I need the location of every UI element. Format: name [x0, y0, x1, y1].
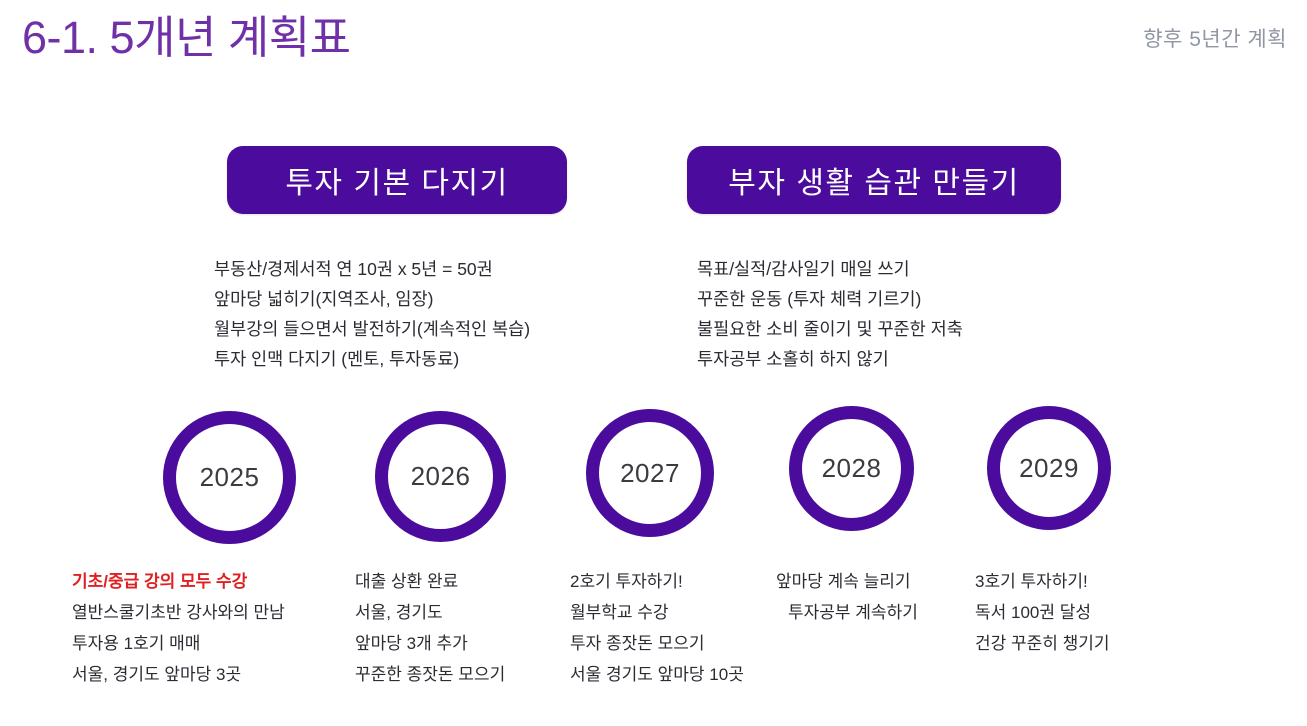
timeline-node-year: 2029 — [1019, 453, 1079, 484]
year-detail-line: 2호기 투자하기! — [570, 566, 744, 597]
year-details-2027: 2호기 투자하기! 월부학교 수강 투자 종잣돈 모으기 서울 경기도 앞마당 … — [570, 566, 744, 690]
year-detail-line: 건강 꾸준히 챙기기 — [975, 628, 1110, 659]
year-detail-line: 3호기 투자하기! — [975, 566, 1110, 597]
banner-rich-habits: 부자 생활 습관 만들기 — [687, 146, 1061, 214]
page-subtitle: 향후 5년간 계획 — [1143, 23, 1287, 53]
year-detail-line: 열반스쿨기초반 강사와의 만남 — [72, 597, 285, 628]
timeline-node-2025: 2025 — [163, 411, 296, 544]
bullet-list-rich-habits: 목표/실적/감사일기 매일 쓰기 꾸준한 운동 (투자 체력 기르기) 불필요한… — [697, 254, 963, 374]
year-detail-line: 독서 100권 달성 — [975, 597, 1110, 628]
bullet-line: 부동산/경제서적 연 10권 x 5년 = 50권 — [214, 254, 530, 284]
bullet-line: 투자 인맥 다지기 (멘토, 투자동료) — [214, 344, 530, 374]
timeline-node-year: 2026 — [411, 461, 471, 492]
year-detail-line: 투자용 1호기 매매 — [72, 628, 285, 659]
year-detail-line: 꾸준한 종잣돈 모으기 — [355, 659, 505, 690]
timeline-node-2029: 2029 — [987, 406, 1111, 530]
year-detail-line-highlight: 기초/중급 강의 모두 수강 — [72, 566, 285, 597]
bullet-list-investment-basics: 부동산/경제서적 연 10권 x 5년 = 50권 앞마당 넓히기(지역조사, … — [214, 254, 530, 374]
slide-canvas: 6-1. 5개년 계획표 향후 5년간 계획 투자 기본 다지기 부자 생활 습… — [0, 0, 1307, 726]
page-title: 6-1. 5개년 계획표 — [22, 12, 351, 64]
timeline-node-2026: 2026 — [375, 411, 506, 542]
banner-label: 부자 생활 습관 만들기 — [728, 158, 1019, 202]
timeline-node-year: 2028 — [822, 453, 882, 484]
year-detail-line: 투자공부 계속하기 — [776, 597, 918, 628]
year-details-2025: 기초/중급 강의 모두 수강 열반스쿨기초반 강사와의 만남 투자용 1호기 매… — [72, 566, 285, 690]
timeline-node-year: 2025 — [200, 462, 260, 493]
timeline-node-2028: 2028 — [789, 406, 914, 531]
bullet-line: 꾸준한 운동 (투자 체력 기르기) — [697, 284, 963, 314]
year-detail-line: 서울 경기도 앞마당 10곳 — [570, 659, 744, 690]
year-detail-line: 대출 상환 완료 — [355, 566, 505, 597]
bullet-line: 앞마당 넓히기(지역조사, 임장) — [214, 284, 530, 314]
year-detail-line: 월부학교 수강 — [570, 597, 744, 628]
year-detail-line: 앞마당 3개 추가 — [355, 628, 505, 659]
year-detail-line: 서울, 경기도 앞마당 3곳 — [72, 659, 285, 690]
bullet-line: 월부강의 들으면서 발전하기(계속적인 복습) — [214, 314, 530, 344]
timeline-node-year: 2027 — [620, 458, 680, 489]
year-details-2028: 앞마당 계속 늘리기 투자공부 계속하기 — [776, 566, 918, 628]
year-detail-line: 서울, 경기도 — [355, 597, 505, 628]
year-details-2029: 3호기 투자하기! 독서 100권 달성 건강 꾸준히 챙기기 — [975, 566, 1110, 659]
year-detail-line: 앞마당 계속 늘리기 — [776, 566, 918, 597]
banner-investment-basics: 투자 기본 다지기 — [227, 146, 567, 214]
year-details-2026: 대출 상환 완료 서울, 경기도 앞마당 3개 추가 꾸준한 종잣돈 모으기 — [355, 566, 505, 690]
bullet-line: 투자공부 소홀히 하지 않기 — [697, 344, 963, 374]
bullet-line: 불필요한 소비 줄이기 및 꾸준한 저축 — [697, 314, 963, 344]
bullet-line: 목표/실적/감사일기 매일 쓰기 — [697, 254, 963, 284]
year-detail-line: 투자 종잣돈 모으기 — [570, 628, 744, 659]
timeline-node-2027: 2027 — [586, 409, 714, 537]
banner-label: 투자 기본 다지기 — [285, 158, 508, 202]
